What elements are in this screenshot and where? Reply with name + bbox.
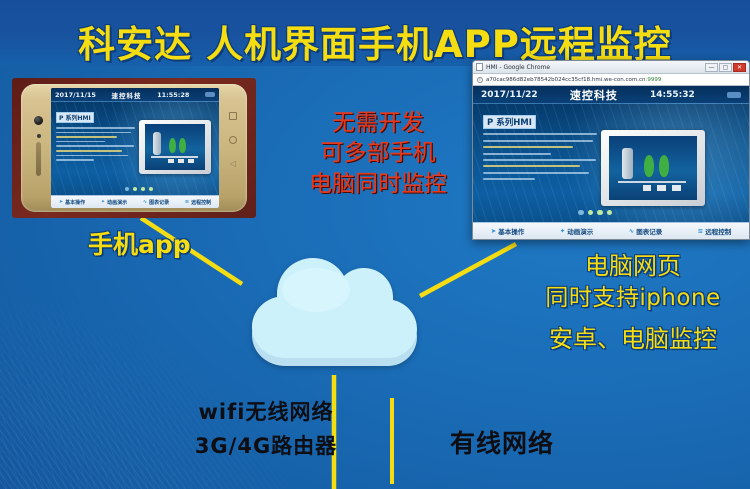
browser-hmi-header-button[interactable] <box>727 92 741 98</box>
phone-chassis: ◁ 2017/11/15 速控科技 11:55:28 P 系列HMI <box>21 84 247 212</box>
browser-nav-label-2: 图表记录 <box>636 226 662 236</box>
hand-pointer-icon: ➤ <box>491 227 496 235</box>
browser-url-host: a70cac986d82eb78542b024cc35cf18.hmi.we-c… <box>486 77 646 83</box>
phone-nav-label-3: 远程控制 <box>191 199 211 206</box>
right-callout-line-3: 安卓、电脑监控 <box>516 323 750 356</box>
browser-hmi-panel-title: P 系列HMI <box>483 115 536 129</box>
chart-line-icon: ∿ <box>143 199 147 205</box>
browser-nav-label-3: 远程控制 <box>705 226 731 236</box>
browser-hmi-info-panel: P 系列HMI <box>483 110 601 180</box>
phone-nav-item-2[interactable]: ∿ 图表记录 <box>143 199 169 206</box>
wireless-network-line-2: 3G/4G路由器 <box>150 430 382 464</box>
phone-camera-icon <box>34 116 43 125</box>
phone-hmi-brand: 速控科技 <box>112 90 142 100</box>
browser-nav-item-2[interactable]: ∿ 图表记录 <box>629 226 662 236</box>
browser-url-port: :9999 <box>646 77 662 83</box>
phone-hmi-info-panel: P 系列HMI <box>56 105 138 161</box>
network-divider <box>390 398 394 484</box>
phone-home-button-icon[interactable] <box>229 136 237 144</box>
phone-hmi-device-image <box>139 120 211 174</box>
red-callout-line-1: 无需开发 <box>292 108 464 138</box>
smartphone-mockup: ◁ 2017/11/15 速控科技 11:55:28 P 系列HMI <box>12 78 256 218</box>
phone-hmi-header: 2017/11/15 速控科技 11:55:28 <box>51 88 219 101</box>
phone-hmi-screen: 2017/11/15 速控科技 11:55:28 P 系列HMI <box>51 88 219 208</box>
browser-hmi-date: 2017/11/22 <box>481 90 538 100</box>
browser-window-controls[interactable]: — ▢ ✕ <box>705 63 746 72</box>
browser-hmi-pagination-dots[interactable] <box>578 210 612 216</box>
wired-network-label: 有线网络 <box>402 424 602 460</box>
wave-signal-icon: ≋ <box>698 227 703 235</box>
wave-signal-icon: ≋ <box>185 199 189 205</box>
right-callout-line-2: 同时支持iphone <box>516 283 750 315</box>
phone-hmi-panel-title: P 系列HMI <box>56 112 94 123</box>
browser-address-bar[interactable]: i a70cac986d82eb78542b024cc35cf18.hmi.we… <box>473 74 749 86</box>
phone-recents-button-icon[interactable] <box>229 112 237 120</box>
phone-nav-item-0[interactable]: ➤ 基本操作 <box>59 199 85 206</box>
browser-hmi-time: 14:55:32 <box>650 90 695 100</box>
red-callout-line-3: 电脑同时监控 <box>292 169 464 199</box>
browser-url-text: a70cac986d82eb78542b024cc35cf18.hmi.we-c… <box>486 77 661 83</box>
phone-nav-label-2: 图表记录 <box>149 199 169 206</box>
browser-nav-label-1: 动画演示 <box>567 226 593 236</box>
browser-nav-item-1[interactable]: ✦ 动画演示 <box>560 226 593 236</box>
browser-hmi-navbar: ➤ 基本操作 ✦ 动画演示 ∿ 图表记录 ≋ 远程控制 <box>473 222 749 239</box>
browser-window[interactable]: HMI - Google Chrome — ▢ ✕ i a70cac986d82… <box>472 60 750 240</box>
phone-hmi-date: 2017/11/15 <box>55 91 96 99</box>
phone-hmi-pagination-dots[interactable] <box>125 187 153 191</box>
minimize-button[interactable]: — <box>705 63 718 72</box>
wireless-network-label: wifi无线网络 3G/4G路由器 <box>150 396 382 463</box>
phone-hmi-navbar: ➤ 基本操作 ✦ 动画演示 ∿ 图表记录 ≋ 远 <box>51 195 219 208</box>
right-callout-line-1: 电脑网页 <box>516 250 750 283</box>
browser-hmi-screen: 2017/11/22 速控科技 14:55:32 P 系列HMI <box>473 86 749 239</box>
chart-line-icon: ∿ <box>629 227 634 235</box>
hand-pointer-icon: ➤ <box>59 199 63 205</box>
browser-hmi-header: 2017/11/22 速控科技 14:55:32 <box>473 86 749 103</box>
wireless-network-line-1: wifi无线网络 <box>150 396 382 430</box>
browser-nav-item-3[interactable]: ≋ 远程控制 <box>698 226 731 236</box>
browser-nav-item-0[interactable]: ➤ 基本操作 <box>491 226 524 236</box>
poster-canvas: 科安达 人机界面手机APP远程监控 ◁ 2017/11/15 速控科技 <box>0 0 750 489</box>
phone-display: 2017/11/15 速控科技 11:55:28 P 系列HMI <box>51 88 219 208</box>
close-button[interactable]: ✕ <box>733 63 746 72</box>
phone-nav-label-0: 基本操作 <box>65 199 85 206</box>
phone-back-button-icon[interactable]: ◁ <box>229 160 237 168</box>
browser-hmi-brand: 速控科技 <box>570 87 618 103</box>
maximize-button[interactable]: ▢ <box>719 63 732 72</box>
phone-hmi-device-screen <box>145 124 206 169</box>
phone-nav-label-1: 动画演示 <box>107 199 127 206</box>
red-callout-block: 无需开发 可多部手机 电脑同时监控 <box>292 108 464 199</box>
browser-nav-label-0: 基本操作 <box>498 226 524 236</box>
phone-hmi-time: 11:55:28 <box>157 91 189 99</box>
phone-app-label: 手机app <box>88 225 191 261</box>
browser-hmi-device-image <box>601 130 705 206</box>
cursor-click-icon: ✦ <box>560 227 565 235</box>
browser-viewport: 2017/11/22 速控科技 14:55:32 P 系列HMI <box>473 86 749 239</box>
phone-speaker-icon <box>36 142 41 176</box>
phone-nav-item-1[interactable]: ✦ 动画演示 <box>101 199 127 206</box>
browser-title-bar[interactable]: HMI - Google Chrome — ▢ ✕ <box>473 61 749 74</box>
phone-hmi-header-button[interactable] <box>205 92 215 97</box>
phone-nav-item-3[interactable]: ≋ 远程控制 <box>185 199 211 206</box>
info-icon[interactable]: i <box>477 77 483 83</box>
red-callout-line-2: 可多部手机 <box>292 138 464 168</box>
network-label-zone: wifi无线网络 3G/4G路由器 有线网络 <box>150 396 600 486</box>
browser-window-title: HMI - Google Chrome <box>486 64 550 71</box>
right-callout-block: 电脑网页 同时支持iphone 安卓、电脑监控 <box>516 250 750 356</box>
cloud-graphic <box>246 248 422 376</box>
phone-sensor-icon <box>37 134 41 138</box>
browser-hmi-device-screen <box>609 136 696 200</box>
cursor-click-icon: ✦ <box>101 199 105 205</box>
page-icon <box>476 63 483 71</box>
